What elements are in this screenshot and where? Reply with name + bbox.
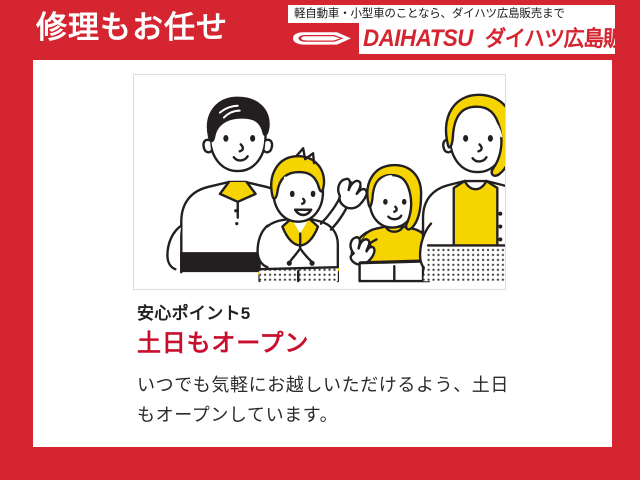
page-title: 修理もお任せ	[36, 10, 228, 46]
point-label: 安心ポイント5	[137, 302, 537, 326]
logo-main-bar: DAIHATSU ダイハツ広島販売	[285, 23, 615, 54]
logo-tagline-text: 軽自動車・小型車のことなら、ダイハツ広島販売まで	[294, 6, 565, 22]
point-body-text: いつでも気軽にお越しいただけるよう、土日もオープンしています。	[137, 370, 509, 430]
slide-root: 修理もお任せ 軽自動車・小型車のことなら、ダイハツ広島販売まで DAIHATSU…	[0, 0, 640, 480]
text-block: 安心ポイント5 土日もオープン いつでも気軽にお越しいただけるよう、土日もオープ…	[137, 302, 537, 430]
logo-brand-japanese: ダイハツ広島販売	[484, 25, 640, 52]
daihatsu-logo-lockup: 軽自動車・小型車のことなら、ダイハツ広島販売まで DAIHATSU ダイハツ広島…	[285, 5, 615, 54]
header-bar: 修理もお任せ 軽自動車・小型車のことなら、ダイハツ広島販売まで DAIHATSU…	[0, 0, 640, 58]
point-heading: 土日もオープン	[137, 328, 537, 360]
illustration-frame	[133, 74, 506, 290]
daihatsu-d-emblem-icon	[285, 23, 359, 54]
content-card: 安心ポイント5 土日もオープン いつでも気軽にお越しいただけるよう、土日もオープ…	[33, 60, 612, 447]
logo-brand-english: DAIHATSU	[363, 24, 473, 53]
family-of-four-illustration	[134, 75, 505, 289]
logo-tagline-bar: 軽自動車・小型車のことなら、ダイハツ広島販売まで	[285, 5, 615, 23]
